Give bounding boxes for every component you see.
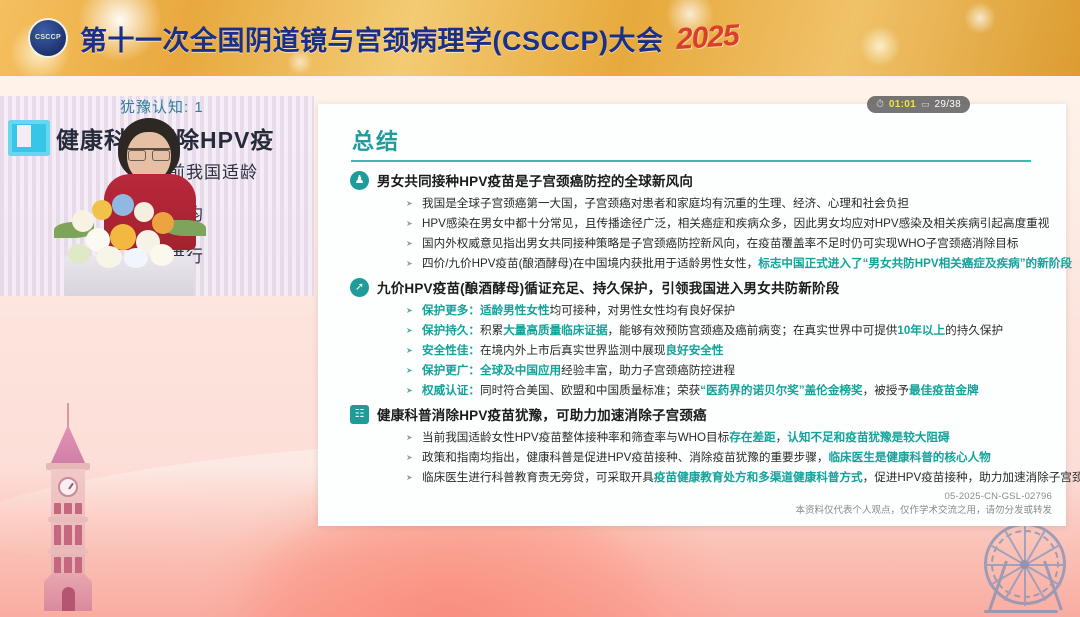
bullet-list: 当前我国适龄女性HPV疫苗整体接种率和筛查率与WHO目标存在差距，认知不足和疫苗… <box>406 428 1052 488</box>
bullet-list: 保护更多：适龄男性女性均可接种，对男性女性均有良好保护保护持久：积累大量高质量临… <box>406 301 1052 401</box>
bullet-item: 我国是全球子宫颈癌第一大国，子宫颈癌对患者和家庭均有沉重的生理、经济、心理和社会… <box>406 194 1052 214</box>
highlighted-text: 疫苗健康教育处方和多渠道健康科普方式 <box>654 471 863 484</box>
clock-icon: ⏱ <box>876 99 884 110</box>
tower-band <box>48 549 88 554</box>
tower-band <box>48 517 88 522</box>
bullet-text: 政策和指南均指出，健康科普是促进HPV疫苗接种、消除疫苗犹豫的重要步骤， <box>422 451 828 464</box>
conference-year: 2025 <box>674 19 739 57</box>
conference-banner: CSCCP 第十一次全国阴道镜与宫颈病理学(CSCCP)大会 2025 <box>0 0 1080 76</box>
bullet-text: 临床医生进行科普教育责无旁贷，可采取开具 <box>422 471 654 484</box>
bullet-item: HPV感染在男女中都十分常见，且传播途径广泛，相关癌症和疾病众多，因此男女均应对… <box>406 214 1052 234</box>
slide-section: ➚ 九价HPV疫苗(酿酒酵母)循证充足、持久保护，引领我国进入男女共防新阶段 保… <box>336 277 1052 401</box>
bullet-item: 国内外权威意见指出男女共同接种策略是子宫颈癌防控新风向，在疫苗覆盖率不足时仍可实… <box>406 234 1052 254</box>
tower-arch-doorway <box>62 587 75 611</box>
csccp-logo-icon: CSCCP <box>28 18 68 58</box>
bullet-item: 临床医生进行科普教育责无旁贷，可采取开具疫苗健康教育处方和多渠道健康科普方式，促… <box>406 468 1052 488</box>
bullet-text: 当前我国适龄女性HPV疫苗整体接种率和筛查率与WHO目标 <box>422 431 729 444</box>
bullet-text: 在境内外上市后真实世界监测中展现 <box>480 344 666 357</box>
player-status-badge[interactable]: ⏱ 01:01 ▭ 29/38 <box>867 96 970 113</box>
slide-body: ♟ 男女共同接种HPV疫苗是子宫颈癌防控的全球新风向 我国是全球子宫颈癌第一大国… <box>336 170 1052 491</box>
glasses-icon <box>127 148 171 157</box>
highlighted-text: 认知不足和疫苗犹豫是较大阻碍 <box>787 431 949 444</box>
highlighted-text: 全球及中国应用 <box>480 364 561 377</box>
section-heading: ♟ 男女共同接种HPV疫苗是子宫颈癌防控的全球新风向 <box>336 170 1052 190</box>
section-heading-text: 男女共同接种HPV疫苗是子宫颈癌防控的全球新风向 <box>377 170 693 190</box>
bullet-text: 四价/九价HPV疫苗(酿酒酵母)在中国境内获批用于适龄男性女性， <box>422 257 758 270</box>
tower-roof <box>50 425 86 465</box>
title-divider <box>351 160 1031 162</box>
highlighted-text: 良好安全性 <box>666 344 724 357</box>
bullet-text: 我国是全球子宫颈癌第一大国，子宫颈癌对患者和家庭均有沉重的生理、经济、心理和社会… <box>422 197 909 210</box>
highlighted-text: 权威认证： <box>422 384 480 397</box>
elapsed-time: 01:01 <box>889 99 916 110</box>
slide-section: ♟ 男女共同接种HPV疫苗是子宫颈癌防控的全球新风向 我国是全球子宫颈癌第一大国… <box>336 170 1052 274</box>
section-heading-text: 九价HPV疫苗(酿酒酵母)循证充足、持久保护，引领我国进入男女共防新阶段 <box>377 277 839 297</box>
highlighted-text: 标志中国正式进入了“男女共防HPV相关癌症及疾病”的新阶段 <box>758 257 1072 270</box>
tower-window-row <box>54 525 82 545</box>
bullet-item: 四价/九价HPV疫苗(酿酒酵母)在中国境内获批用于适龄男性女性，标志中国正式进入… <box>406 254 1052 274</box>
bullet-item: 当前我国适龄女性HPV疫苗整体接种率和筛查率与WHO目标存在差距，认知不足和疫苗… <box>406 428 1052 448</box>
book-icon: ☷ <box>350 405 369 424</box>
highlighted-text: 存在差距 <box>729 431 775 444</box>
highlighted-text: “医药界的诺贝尔奖”盖伦金榜奖 <box>700 384 862 397</box>
highlighted-text: 大量高质量临床证据 <box>503 324 607 337</box>
slide-brand-mark-icon <box>8 120 50 156</box>
bullet-text: ，被授予 <box>863 384 909 397</box>
slide-section: ☷ 健康科普消除HPV疫苗犹豫，可助力加速消除子宫颈癌 当前我国适龄女性HPV疫… <box>336 404 1052 488</box>
highlighted-text: 临床医生是健康科普的核心人物 <box>828 451 990 464</box>
bullet-text: 的持久保护 <box>945 324 1003 337</box>
slide-title: 总结 <box>352 124 400 156</box>
bullet-text: HPV感染在男女中都十分常见，且传播途径广泛，相关癌症和疾病众多，因此男女均应对… <box>422 217 1049 230</box>
highlighted-text: 保护更广： <box>422 364 480 377</box>
flower-arrangement <box>52 192 204 270</box>
bullet-text: 国内外权威意见指出男女共同接种策略是子宫颈癌防控新风向，在疫苗覆盖率不足时仍可实… <box>422 237 1018 250</box>
highlighted-text: 最佳疫苗金牌 <box>909 384 979 397</box>
clock-tower-illustration <box>42 403 94 611</box>
bullet-text: 均可接种，对男性女性均有良好保护 <box>550 304 736 317</box>
highlighted-text: 保护持久： <box>422 324 480 337</box>
bullet-text: 经验丰富，助力子宫颈癌防控进程 <box>561 364 735 377</box>
ferris-ground-bar <box>984 610 1058 613</box>
bullet-item: 保护持久：积累大量高质量临床证据，能够有效预防宫颈癌及癌前病变；在真实世界中可提… <box>406 321 1052 341</box>
highlighted-text: 安全性佳： <box>422 344 480 357</box>
slide-card: ⏱ 01:01 ▭ 29/38 总结 ♟ 男女共同接种HPV疫苗是子宫颈癌防控的… <box>318 104 1066 526</box>
presentation-stream-view: CSCCP 第十一次全国阴道镜与宫颈病理学(CSCCP)大会 2025 犹豫认知… <box>0 0 1080 617</box>
clock-face-icon <box>58 477 78 497</box>
bullet-item: 权威认证：同时符合美国、欧盟和中国质量标准；荣获“医药界的诺贝尔奖”盖伦金榜奖，… <box>406 381 1052 401</box>
tower-window-row <box>54 503 82 514</box>
conference-title: 第十一次全国阴道镜与宫颈病理学(CSCCP)大会 <box>80 19 664 58</box>
speaker-video-panel[interactable]: 犹豫认知: 1 健康科普消除HPV疫 当前我国适龄 指南均 生进行 <box>0 96 314 296</box>
people-icon: ♟ <box>350 171 369 190</box>
vaccine-icon: ➚ <box>350 278 369 297</box>
footer-document-code: 05-2025-CN-GSL-02796 <box>795 490 1052 504</box>
highlighted-text: 保护更多： <box>422 304 480 317</box>
page-counter: 29/38 <box>934 99 961 110</box>
section-heading: ☷ 健康科普消除HPV疫苗犹豫，可助力加速消除子宫颈癌 <box>336 404 1052 424</box>
projected-slide-top-line: 犹豫认知: 1 <box>120 96 204 117</box>
section-heading-text: 健康科普消除HPV疫苗犹豫，可助力加速消除子宫颈癌 <box>377 404 707 424</box>
bullet-item: 政策和指南均指出，健康科普是促进HPV疫苗接种、消除疫苗犹豫的重要步骤，临床医生… <box>406 448 1052 468</box>
footer-disclaimer: 本资料仅代表个人观点，仅作学术交流之用，请勿分发或转发 <box>795 504 1052 518</box>
bullet-text: ， <box>776 431 788 444</box>
highlighted-text: 适龄男性女性 <box>480 304 550 317</box>
bullet-text: 同时符合美国、欧盟和中国质量标准；荣获 <box>480 384 700 397</box>
bullet-text: ，能够有效预防宫颈癌及癌前病变；在真实世界中可提供 <box>608 324 898 337</box>
page-icon: ▭ <box>921 99 930 110</box>
bullet-list: 我国是全球子宫颈癌第一大国，子宫颈癌对患者和家庭均有沉重的生理、经济、心理和社会… <box>406 194 1052 274</box>
bullet-item: 保护更广：全球及中国应用经验丰富，助力子宫颈癌防控进程 <box>406 361 1052 381</box>
bullet-item: 安全性佳：在境内外上市后真实世界监测中展现良好安全性 <box>406 341 1052 361</box>
highlighted-text: 10年以上 <box>897 324 945 337</box>
section-heading: ➚ 九价HPV疫苗(酿酒酵母)循证充足、持久保护，引领我国进入男女共防新阶段 <box>336 277 1052 297</box>
bullet-item: 保护更多：适龄男性女性均可接种，对男性女性均有良好保护 <box>406 301 1052 321</box>
ferris-wheel-illustration <box>954 519 1072 615</box>
bullet-text: 积累 <box>480 324 503 337</box>
bullet-text: ，促进HPV疫苗接种，助力加速消除子宫颈癌 <box>863 471 1080 484</box>
ferris-hub <box>1020 560 1029 569</box>
slide-footer: 05-2025-CN-GSL-02796 本资料仅代表个人观点，仅作学术交流之用… <box>795 490 1052 518</box>
